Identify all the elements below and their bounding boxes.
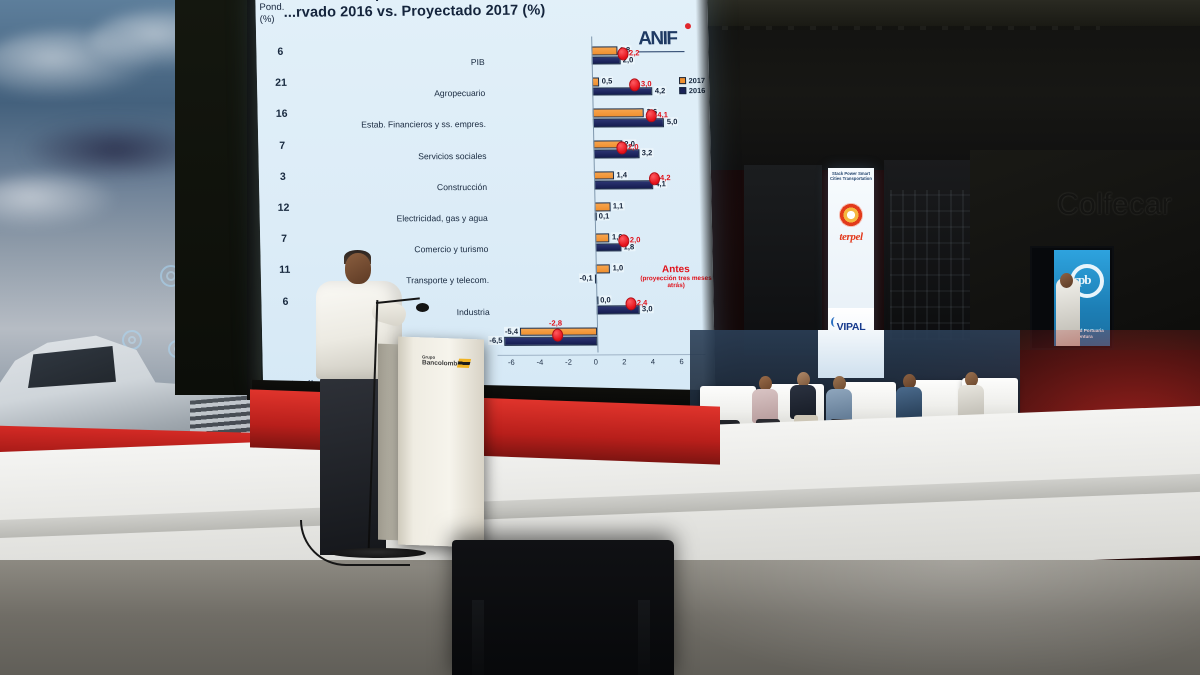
speaker-legs xyxy=(320,375,386,555)
panelist-torso xyxy=(752,389,778,423)
bar-value-label: 0,0 xyxy=(599,295,612,304)
panelist-torso xyxy=(790,385,816,419)
weight-value: 12 xyxy=(271,202,295,214)
category-label: Construcción xyxy=(437,182,487,192)
anif-dot-icon xyxy=(685,23,691,29)
antes-value-label: -2,8 xyxy=(549,318,562,327)
antes-value-label: 2,0 xyxy=(630,235,641,244)
bar-2017 xyxy=(594,202,610,211)
category-label: Electricidad, gas y agua xyxy=(396,213,487,223)
bar-value-label: -0,1 xyxy=(578,273,593,282)
antes-value-label: 2,4 xyxy=(637,298,648,307)
bar-value-label: 4,2 xyxy=(654,86,667,95)
monitor-speaker-head xyxy=(1060,273,1073,288)
slide-title: ...ual del PIB por oferta ...rvado 2016 … xyxy=(283,0,684,22)
antes-value-label: 4,2 xyxy=(660,173,671,182)
weight-value: 3 xyxy=(271,171,295,183)
terpel-wordmark: terpel xyxy=(828,231,874,243)
category-label: Agropecuario xyxy=(434,88,485,98)
x-axis-tick: 6 xyxy=(679,357,683,366)
bar-value-label: 1,1 xyxy=(612,201,625,210)
antes-marker xyxy=(552,328,563,341)
legend-swatch xyxy=(679,87,686,94)
antes-value-label: 2,2 xyxy=(629,48,640,57)
panelist xyxy=(790,372,816,419)
bar-2017 xyxy=(595,234,609,243)
microphone-icon xyxy=(416,303,429,312)
legend-swatch xyxy=(679,77,686,84)
weight-value: 16 xyxy=(270,108,294,120)
dark-panel-left xyxy=(744,165,822,355)
weight-value: 7 xyxy=(270,139,294,151)
terpel-logo-icon xyxy=(839,203,863,227)
x-axis-tick: -4 xyxy=(536,358,543,367)
panelist xyxy=(752,376,778,423)
x-axis-tick: 4 xyxy=(651,357,655,366)
bar-2016 xyxy=(595,243,621,252)
antes-value-label: 4,1 xyxy=(657,111,668,120)
banner-top-text: Stack Power Smart Cities Transportation xyxy=(828,168,874,181)
category-label: Comercio y turismo xyxy=(414,244,488,254)
category-label: Servicios sociales xyxy=(418,151,487,161)
microphone-base xyxy=(330,548,426,558)
pond-header: Pond. (%) xyxy=(259,2,284,26)
bar-value-label: 3,2 xyxy=(641,148,654,157)
bar-value-label: 0,1 xyxy=(598,211,611,220)
antes-marker xyxy=(648,172,659,185)
bar-value-label: 1,4 xyxy=(615,170,628,179)
category-label: Estab. Financieros y ss. empres. xyxy=(361,119,486,130)
bar-2017 xyxy=(591,46,617,55)
weight-value: 11 xyxy=(273,264,297,276)
panelist xyxy=(896,374,922,421)
x-axis-tick: 0 xyxy=(594,357,598,366)
weight-value: 7 xyxy=(272,233,296,245)
foreground-chair-leg xyxy=(472,600,484,675)
antes-value-label: 2,0 xyxy=(628,142,639,151)
floor-reflection xyxy=(600,560,1200,675)
podium: Grupo Bancolombia xyxy=(398,336,484,547)
foreground-chair-leg xyxy=(638,600,650,675)
bar-value-label: 1,0 xyxy=(612,264,625,273)
bar-2017 xyxy=(593,109,645,118)
x-axis xyxy=(498,354,706,356)
weight-value: 6 xyxy=(273,295,297,307)
bar-2017 xyxy=(596,265,610,274)
x-axis-tick: -6 xyxy=(508,358,515,367)
antes-marker xyxy=(617,47,628,60)
podium-side xyxy=(378,344,400,541)
antes-value-label: 3,0 xyxy=(641,79,652,88)
weight-value: 6 xyxy=(268,46,292,58)
bar-value-label: -5,4 xyxy=(504,327,519,336)
category-label: Industria xyxy=(457,307,490,317)
bar-value-label: -6,5 xyxy=(488,336,503,345)
panelist-torso xyxy=(826,389,852,423)
vipal-swirl-icon xyxy=(831,317,839,327)
bar-2017 xyxy=(594,171,614,180)
weight-value: 21 xyxy=(269,77,293,89)
bar-2016 xyxy=(592,56,621,65)
panelist xyxy=(958,372,984,419)
bar-2016 xyxy=(594,181,653,190)
bar-2016 xyxy=(504,337,597,346)
venue-sign: Colfecar xyxy=(1057,188,1172,222)
speaker-head xyxy=(345,253,371,284)
bar-value-label: 0,5 xyxy=(601,77,614,86)
panel-monitor xyxy=(818,330,884,378)
x-axis-tick: -2 xyxy=(565,358,572,367)
panelist xyxy=(826,376,852,423)
conference-scene: ...ual del PIB por oferta ...rvado 2016 … xyxy=(0,0,1200,675)
bancolombia-mark-icon xyxy=(457,359,471,368)
antes-marker xyxy=(625,297,636,310)
category-label: PIB xyxy=(471,57,485,67)
x-axis-tick: 2 xyxy=(622,357,626,366)
antes-marker xyxy=(616,141,627,154)
category-label: Transporte y telecom. xyxy=(406,275,489,285)
